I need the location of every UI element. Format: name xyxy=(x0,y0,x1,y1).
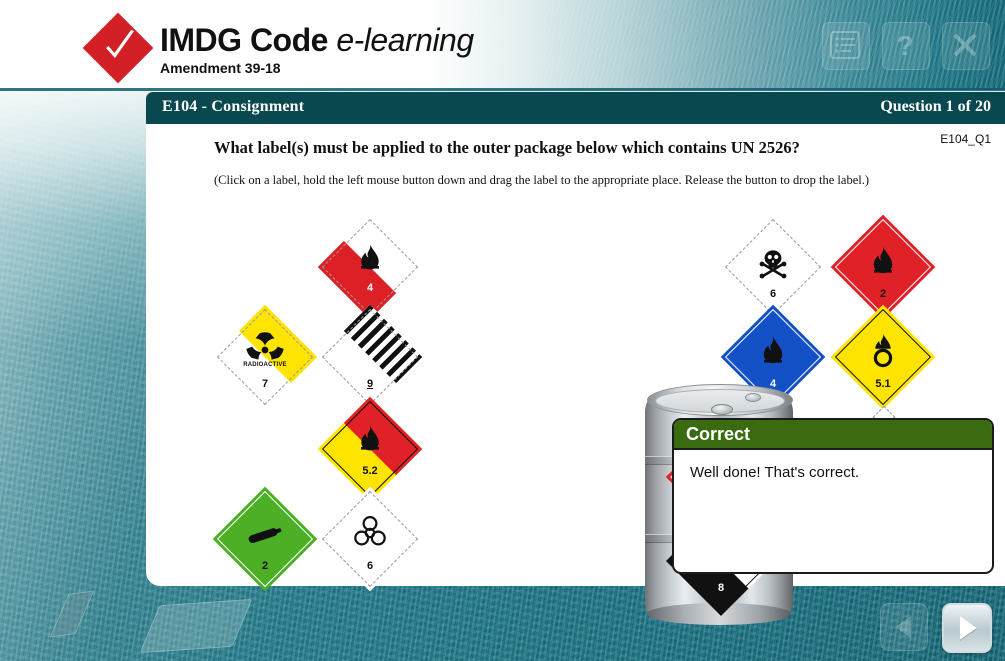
label-class-number: 6 xyxy=(736,288,810,300)
triangle-right-icon xyxy=(960,616,977,640)
label-class-number: 5.1 xyxy=(846,378,920,390)
label-class-number: 4 xyxy=(333,282,407,294)
label-class-6-infectious-substance[interactable]: 6 xyxy=(333,502,407,576)
question-progress: Question 1 of 20 xyxy=(880,98,991,116)
header-divider xyxy=(0,88,1005,91)
close-icon[interactable] xyxy=(942,22,990,70)
label-class-number: 9 xyxy=(333,378,407,390)
brand-title: IMDG Code e-learning Amendment 39-18 xyxy=(160,22,474,76)
label-class-number: 6 xyxy=(333,560,407,572)
module-title-bar: E104 - Consignment Question 1 of 20 xyxy=(146,92,1005,124)
brand-name-italic: e-learning xyxy=(336,22,473,58)
label-class-6-toxic[interactable]: 6 xyxy=(736,230,810,304)
feedback-dialog: Correct Well done! That's correct. xyxy=(672,418,994,574)
feedback-message: Well done! That's correct. xyxy=(674,450,992,481)
label-class-number: 8 xyxy=(682,582,760,594)
question-text: What label(s) must be applied to the out… xyxy=(214,138,954,158)
brand-amendment: Amendment 39-18 xyxy=(160,60,474,76)
brand-name-bold: IMDG Code xyxy=(160,22,336,58)
label-class-number: 2 xyxy=(228,560,302,572)
feedback-title: Correct xyxy=(674,420,992,450)
label-class-2-non-flammable-gas[interactable]: 2 xyxy=(228,502,302,576)
imdg-checkmark-logo xyxy=(86,16,152,82)
label-class-number: 5.2 xyxy=(333,465,407,477)
module-name: E104 - Consignment xyxy=(162,98,304,116)
label-class-number: 7 xyxy=(228,378,302,390)
label-caption-radioactive: RADIOACTIVE xyxy=(228,362,302,368)
svg-text:?: ? xyxy=(896,30,913,61)
checkmark-icon xyxy=(100,29,140,69)
label-class-5-2-organic-peroxide[interactable]: 5.2 xyxy=(333,412,407,486)
question-mark-icon[interactable]: ? xyxy=(882,22,930,70)
triangle-left-icon xyxy=(896,616,911,638)
label-class-7-radioactive[interactable]: RADIOACTIVE 7 xyxy=(228,320,302,394)
list-icon[interactable] xyxy=(822,22,870,70)
label-class-2-flammable-gas[interactable]: 2 xyxy=(846,230,920,304)
question-hint: (Click on a label, hold the left mouse b… xyxy=(214,172,942,188)
back-button[interactable] xyxy=(880,603,928,651)
label-class-number: 2 xyxy=(846,288,920,300)
label-class-4-spontaneously-combustible[interactable]: 4 xyxy=(333,230,407,304)
label-class-5-1-oxidizer[interactable]: 5.1 xyxy=(846,320,920,394)
next-button[interactable] xyxy=(942,603,992,653)
label-class-9-miscellaneous[interactable]: 9 xyxy=(333,320,407,394)
